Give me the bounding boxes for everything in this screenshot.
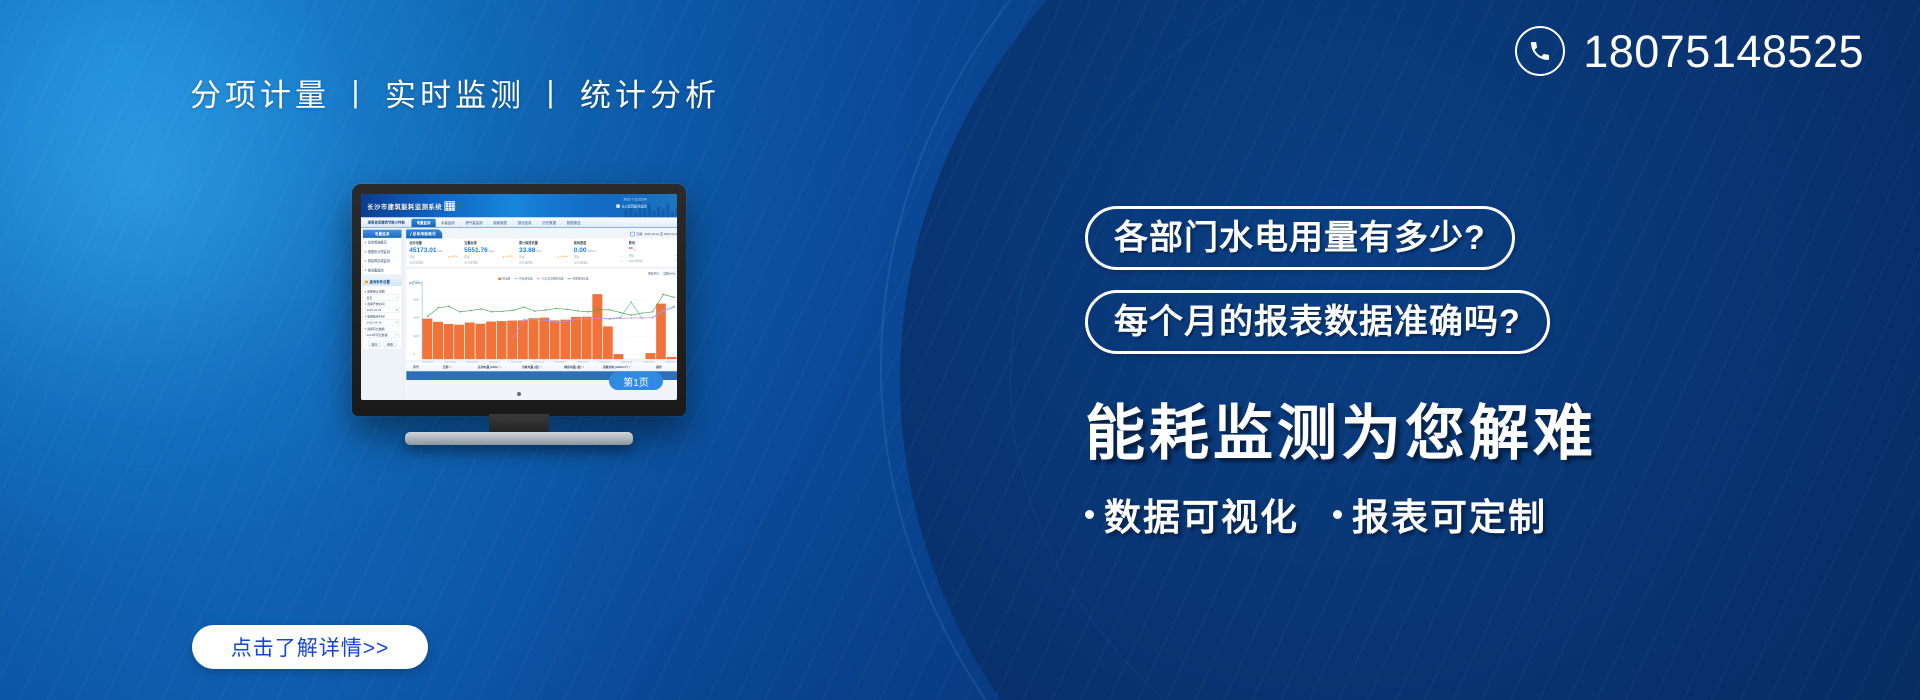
legend-label: 2021年同期用电量	[542, 277, 564, 281]
kpi-prev-value: —	[510, 260, 513, 264]
tagline-part-1: 分项计量	[190, 78, 330, 113]
kpi-mom-label: 环比:	[629, 254, 635, 258]
dashboard-sidebar: 电量监测 总体用能概况 按配机分项监测 按建筑区域监	[361, 227, 404, 400]
legend-item-bar[interactable]: 用电量	[498, 277, 510, 281]
kpi-card-standard-coal: 当量标煤 5551.76kgce 环比: 4.47% 2021年同比:	[461, 238, 516, 266]
header-timestamp: 2022-7-13 15:04	[624, 197, 647, 201]
filter-actions: 提交 重置	[365, 341, 400, 347]
yoy-select-value: 2021年同比数据	[367, 333, 388, 337]
table-column-header[interactable]: 日期	[426, 363, 468, 371]
calendar-icon: ▤	[396, 309, 398, 312]
kpi-label: 费用	[629, 241, 677, 246]
feature-bullet-2: 报表可定制	[1333, 487, 1547, 541]
kpi-value: 33.88	[519, 246, 535, 253]
sidebar-item-overview[interactable]: 总体用能概况	[363, 238, 402, 247]
tagline-part-3: 统计分析	[580, 78, 720, 113]
table-column-header[interactable]: 高峰用电 (kWh/m²)	[596, 363, 638, 371]
kpi-card-cost: 费用 **元 环比: — 2021年同比: —	[626, 238, 677, 266]
table-column-label: 操作	[656, 365, 662, 369]
chart-x-tick-label: 2022-04-15	[577, 361, 588, 363]
chevron-right-icon	[365, 251, 366, 253]
kpi-prev-row: 2021年同比: —	[629, 259, 677, 263]
kpi-label: 能耗密度	[574, 241, 623, 246]
question-pill-2: 每个月的报表数据准确吗?	[1085, 290, 1550, 354]
chart-x-tick-label: 2022-04-03	[444, 361, 455, 363]
chart-x-tick-label: 2022-04-09	[511, 361, 522, 363]
phone-number: 18075148525	[1583, 29, 1864, 74]
kpi-value: 45173.01	[409, 246, 436, 253]
kpi-mom-label: 环比:	[409, 255, 415, 259]
chart-y-tick-label: 4000	[413, 280, 419, 283]
filter-label-text: 选择开始时间	[367, 302, 384, 306]
chevron-right-icon	[365, 241, 366, 243]
legend-swatch-icon	[498, 278, 501, 280]
chart-legend: 用电量 环比用电量 2021年同期用电量 同期量均比量	[409, 277, 677, 281]
sort-arrows-icon[interactable]	[450, 366, 451, 368]
panel-tab-label: 总体用能概况	[413, 231, 436, 236]
arrow-up-icon	[448, 256, 450, 257]
question-pill-1: 各部门水电用量有多少?	[1085, 206, 1515, 270]
kpi-value: 0.00	[574, 246, 587, 253]
sidebar-section-title: 电量监测	[363, 230, 402, 238]
bullet-dot-icon	[1333, 510, 1342, 519]
learn-more-label: 点击了解详情>>	[231, 632, 390, 662]
kpi-label: 当量标煤	[464, 241, 513, 246]
required-dot-icon	[365, 291, 366, 292]
filter-label-period: 选择统计周期	[365, 290, 400, 294]
unit-selector-value: 度数(kWh)	[661, 271, 677, 276]
building-grid-icon	[444, 201, 455, 211]
kpi-prev-label: 2021年同比:	[409, 260, 424, 264]
filter-label-start: 选择开始时间	[365, 302, 400, 306]
marketing-copy: 各部门水电用量有多少? 每个月的报表数据准确吗? 能耗监测为您解难 数据可视化 …	[1085, 206, 1875, 541]
date-range-value: 2022-04-01 至 2022-04-30	[644, 232, 677, 236]
kpi-label: 总用电量	[409, 241, 458, 246]
header-user[interactable]: 长沙建筑能耗监测	[616, 204, 647, 209]
kpi-card-carbon: 累计碳排放量 33.88tCO₂ 环比: 4.46% 2021年同比:	[516, 238, 571, 266]
kpi-value: 5551.76	[464, 246, 488, 253]
sidebar-item-label: 按配机分项监测	[368, 249, 390, 254]
chevron-right-icon	[365, 260, 366, 262]
tagline-separator-1: 丨	[330, 78, 385, 113]
unit-selector-label: 数据单位:	[648, 272, 659, 276]
kpi-prev-value: —	[565, 260, 568, 264]
tagline-separator-2: 丨	[525, 78, 580, 113]
panel-tab-overview[interactable]: 总体用能概况	[406, 229, 442, 238]
kpi-value-wrap: 5551.76kgce	[464, 247, 513, 254]
legend-item-lastyear[interactable]: 2021年同期用电量	[537, 277, 564, 281]
project-selector[interactable]: 湖南省某建筑节能小样板	[363, 218, 409, 226]
kpi-unit: kWh/m²	[587, 250, 596, 253]
kpi-change-row: 环比: —	[629, 254, 677, 258]
filter-label-text: 选择统计周期	[367, 290, 384, 294]
sidebar-item-label: 按设备监测	[368, 268, 384, 273]
required-dot-icon	[365, 303, 366, 304]
kpi-prev-value: —	[620, 260, 623, 264]
kpi-prev-row: 2021年同比: —	[409, 260, 458, 264]
end-date-input[interactable]: 2022-04-30 ▤	[365, 319, 400, 325]
nav-tab-station-info[interactable]: 基站信息	[513, 219, 537, 226]
calendar-icon: ▤	[396, 321, 398, 324]
end-date-value: 2022-04-30	[367, 321, 382, 324]
tagline-part-2: 实时监测	[385, 78, 525, 113]
submit-button[interactable]: 提交	[368, 341, 381, 347]
kpi-prev-row: 2021年同比: —	[464, 260, 513, 264]
kpi-change-row: 环比: 4.46%	[519, 255, 568, 259]
start-date-value: 2022-04-01	[367, 308, 382, 311]
chart-x-tick-label: 2022-04-17	[599, 361, 610, 363]
sidebar-item-device-monitor[interactable]: 按设备监测	[363, 266, 402, 275]
monitor-device: 长沙市建筑能耗监测系统 2022-7-13 15:04 长沙建筑能耗监测 湖南省…	[352, 184, 686, 416]
legend-item-average[interactable]: 同期量均比量	[567, 277, 588, 281]
kpi-value-wrap: **元	[629, 247, 677, 252]
table-column-header[interactable]: 峰段电量 (度)	[553, 363, 595, 371]
sort-arrows-icon[interactable]	[499, 366, 500, 368]
chart-x-tick-label: 2022-04-13	[555, 361, 566, 363]
legend-label: 同期量均比量	[573, 277, 589, 281]
chart-y-tick-label: 1000	[413, 335, 419, 338]
chevron-down-icon: ▼	[396, 296, 398, 298]
table-column-header[interactable]: 操作	[638, 363, 677, 371]
chart-x-tick-label: 2022-04-07	[489, 361, 500, 363]
filter-card: 查询条件设置 选择统计周期 按日 ▼	[363, 277, 402, 349]
sort-arrows-icon[interactable]	[540, 366, 541, 368]
dashboard-header: 长沙市建筑能耗监测系统 2022-7-13 15:04 长沙建筑能耗监测	[361, 194, 677, 217]
monitor-screen: 长沙市建筑能耗监测系统 2022-7-13 15:04 长沙建筑能耗监测 湖南省…	[361, 194, 677, 400]
table-header-row: 序号日期总用电量 (kWh)为峰电量 (度)峰段电量 (度)高峰用电 (kWh/…	[406, 363, 677, 372]
chart-x-tick-label: 2022-04-01	[422, 361, 433, 363]
kpi-unit: kgce	[489, 250, 495, 253]
date-range-label: 日期:	[636, 232, 643, 236]
arrow-up-icon	[503, 256, 505, 257]
kpi-unit: 元	[634, 249, 637, 252]
chart-x-tick-label: 2022-04-19	[621, 361, 632, 363]
chart-x-tick-label: 2022-04-23	[665, 361, 676, 363]
period-select-value: 按日	[367, 295, 373, 299]
required-dot-icon	[365, 316, 366, 317]
nav-tab-gas[interactable]: 燃气量监测	[460, 219, 488, 226]
nav-tab-reports[interactable]: 能耗报表	[488, 219, 512, 226]
chart-x-tick-label: 2022-04-11	[533, 361, 544, 363]
kpi-change-value: —	[620, 255, 623, 259]
sidebar-item-label: 按建筑区域监测	[368, 259, 390, 264]
energy-dashboard: 长沙市建筑能耗监测系统 2022-7-13 15:04 长沙建筑能耗监测 湖南省…	[361, 194, 677, 400]
sort-arrows-icon[interactable]	[629, 366, 630, 368]
table-column-label: 日期	[443, 365, 449, 369]
arrow-up-icon	[558, 256, 560, 257]
kpi-prev-label: 2021年同比:	[519, 260, 534, 264]
legend-item-mom[interactable]: 环比用电量	[514, 277, 532, 281]
filter-label-yoy: 选择同比数据	[365, 327, 400, 331]
nav-tab-list: 电量监测 水量监测 燃气量监测 能耗报表 基站信息 历史数据 数据报送	[411, 219, 586, 227]
feature-label-1: 数据可视化	[1104, 487, 1299, 541]
kpi-prev-value: —	[455, 260, 458, 264]
chart-y-tick-label: 2000	[413, 316, 419, 319]
filter-label-text: 选择同比数据	[367, 327, 384, 331]
nav-tab-electricity[interactable]: 电量监测	[411, 219, 435, 227]
kpi-value-wrap: 0.00kWh/m²	[574, 247, 623, 254]
kpi-card-total-electricity: 总用电量 45173.01kWh 环比: 4.47% 2021年同比:	[406, 238, 461, 266]
system-title-text: 长沙市建筑能耗监测系统	[367, 202, 442, 211]
page-badge[interactable]: 第1页	[609, 372, 663, 390]
period-select[interactable]: 按日 ▼	[365, 295, 400, 301]
legend-label: 环比用电量	[519, 277, 532, 281]
kpi-mom-label: 环比:	[574, 255, 580, 259]
kpi-change-value: —	[675, 254, 677, 258]
kpi-unit: kWh	[437, 250, 442, 253]
kpi-change-up: 4.46%	[558, 255, 568, 259]
learn-more-button[interactable]: 点击了解详情>>	[192, 625, 428, 669]
sidebar-nav-card: 电量监测 总体用能概况 按配机分项监测 按建筑区域监	[363, 229, 402, 275]
phone-circle-icon	[1515, 26, 1565, 76]
kpi-change-value: 4.47%	[450, 255, 458, 258]
chevron-right-icon	[365, 269, 366, 271]
sidebar-item-area-monitor[interactable]: 按建筑区域监测	[363, 256, 402, 265]
header-user-label: 长沙建筑能耗监测	[621, 204, 646, 209]
table-column-header[interactable]: 序号	[406, 363, 425, 371]
filter-body: 选择统计周期 按日 ▼ 选择开始时间	[363, 286, 402, 349]
kpi-change-row: 环比: —	[574, 255, 623, 259]
sidebar-item-label: 总体用能概况	[368, 240, 387, 245]
date-range-display[interactable]: 日期: 2022-04-01 至 2022-04-30	[630, 232, 677, 236]
table-column-label: 峰段电量 (度)	[564, 365, 581, 369]
table-column-label: 高峰用电 (kWh/m²)	[603, 365, 628, 369]
filter-label-text: 选择结束时间	[367, 314, 384, 318]
feature-bullet-1: 数据可视化	[1085, 487, 1299, 541]
avatar	[616, 204, 620, 208]
kpi-value: **	[629, 246, 633, 252]
kpi-change-up: 4.47%	[448, 255, 458, 259]
nav-tab-data-submit[interactable]: 数据报送	[562, 219, 586, 226]
table-column-label: 为峰电量 (度)	[522, 365, 539, 369]
kpi-mom-label: 环比:	[464, 255, 470, 259]
required-dot-icon	[365, 328, 366, 329]
kpi-prev-row: 2021年同比: —	[574, 260, 623, 264]
kpi-change-up: 4.47%	[503, 255, 513, 259]
table-column-header[interactable]: 总用电量 (kWh)	[468, 363, 510, 371]
calendar-icon	[630, 232, 634, 236]
table-column-header[interactable]: 为峰电量 (度)	[511, 363, 553, 371]
kpi-cards: 总用电量 45173.01kWh 环比: 4.47% 2021年同比:	[406, 238, 677, 266]
chart-x-tick-labels: 2022-04-012022-04-032022-04-052022-04-07…	[422, 361, 676, 363]
table-column-label: 序号	[413, 365, 419, 369]
monitor-indicator-dot	[517, 392, 521, 396]
kpi-label: 累计碳排放量	[519, 241, 568, 246]
kpi-mom-label: 环比:	[519, 255, 525, 259]
flag-icon	[365, 280, 368, 283]
kpi-change-row: 环比: 4.47%	[464, 255, 513, 259]
consumption-chart: 数据单位: 度数(kWh) 用电量 环比用电量 2021年同期用电量 同期量均比…	[406, 269, 677, 361]
feature-label-2: 报表可定制	[1352, 487, 1547, 541]
sort-arrows-icon[interactable]	[583, 366, 584, 368]
kpi-change-row: 环比: 4.47%	[409, 255, 458, 259]
tab-accent-icon	[410, 232, 412, 236]
contact-phone[interactable]: 18075148525	[1515, 26, 1864, 76]
kpi-prev-label: 2021年同比:	[464, 260, 479, 264]
kpi-prev-row: 2021年同比: —	[519, 260, 568, 264]
kpi-change-value: 4.47%	[505, 255, 513, 258]
monitor-stand-base	[405, 432, 633, 445]
kpi-card-energy-density: 能耗密度 0.00kWh/m² 环比: — 2021年同比:	[571, 238, 626, 266]
chart-y-tick-label: 3000	[413, 298, 419, 301]
system-title: 长沙市建筑能耗监测系统	[367, 201, 455, 211]
chart-plot-area: 电量 (kWh) 01000200030004000 2022-04-01202…	[409, 282, 677, 360]
kpi-value-wrap: 33.88tCO₂	[519, 247, 568, 254]
promo-banner: 18075148525 分项计量丨实时监测丨统计分析 点击了解详情>> 各部门水…	[0, 0, 1920, 700]
panel-header: 总体用能概况 日期: 2022-04-01 至 2022-04-30	[406, 229, 677, 238]
chart-x-tick-label: 2022-04-05	[467, 361, 478, 363]
feature-bullets: 数据可视化 报表可定制	[1085, 487, 1875, 541]
kpi-unit: tCO₂	[536, 250, 542, 253]
nav-tab-water[interactable]: 水量监测	[436, 219, 460, 226]
question-text-1: 各部门水电用量有多少?	[1114, 221, 1486, 255]
chart-y-tick-label: 0	[413, 353, 414, 356]
filter-title: 查询条件设置	[363, 278, 402, 286]
chevron-down-icon: ▼	[396, 333, 398, 335]
kpi-prev-label: 2021年同比:	[629, 259, 644, 263]
start-date-input[interactable]: 2022-04-01 ▤	[365, 307, 400, 313]
headline: 能耗监测为您解难	[1085, 402, 1875, 465]
reset-button[interactable]: 重置	[383, 341, 396, 347]
filter-label-end: 选择结束时间	[365, 314, 400, 318]
dashboard-nav: 湖南省某建筑节能小样板 电量监测 水量监测 燃气量监测 能耗报表 基站信息 历史…	[361, 217, 677, 227]
kpi-value-wrap: 45173.01kWh	[409, 247, 458, 254]
yoy-select[interactable]: 2021年同比数据 ▼	[365, 332, 400, 338]
question-text-2: 每个月的报表数据准确吗?	[1114, 305, 1521, 339]
nav-tab-history[interactable]: 历史数据	[537, 219, 561, 226]
tagline: 分项计量丨实时监测丨统计分析	[190, 70, 720, 115]
filter-title-label: 查询条件设置	[369, 279, 389, 284]
legend-label: 用电量	[502, 277, 510, 281]
chart-x-tick-label: 2022-04-21	[643, 361, 654, 363]
table-column-label: 总用电量 (kWh)	[478, 365, 499, 369]
sidebar-item-subitem-monitor[interactable]: 按配机分项监测	[363, 247, 402, 256]
kpi-prev-value: —	[675, 259, 677, 263]
kpi-prev-label: 2021年同比:	[574, 260, 589, 264]
kpi-change-value: 4.46%	[560, 255, 568, 258]
bullet-dot-icon	[1085, 510, 1094, 519]
unit-selector[interactable]: 数据单位: 度数(kWh)	[409, 271, 677, 276]
chart-line-series	[422, 286, 677, 359]
